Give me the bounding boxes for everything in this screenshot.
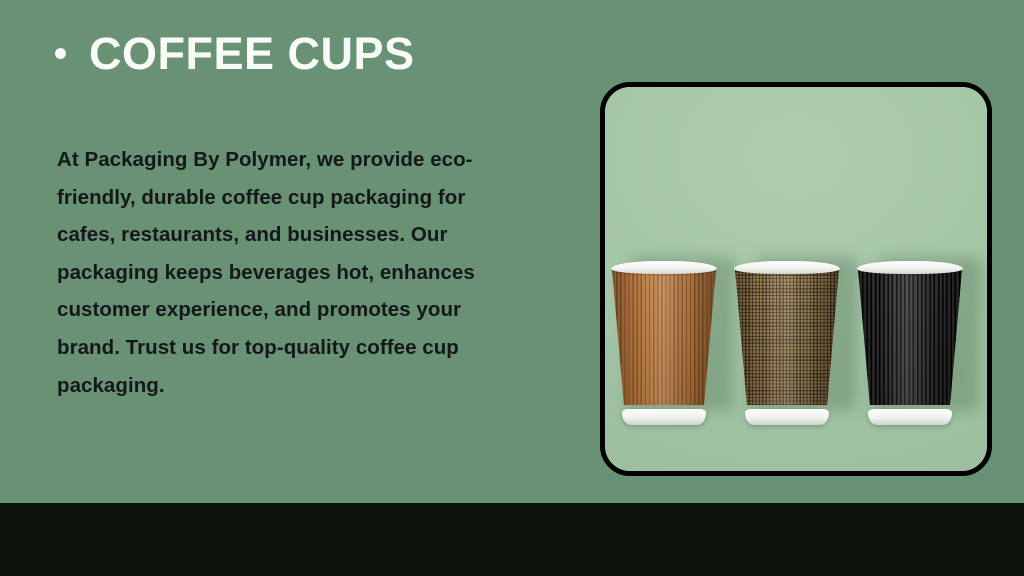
bottom-bar bbox=[0, 503, 1024, 576]
coffee-cups-photo bbox=[605, 87, 987, 471]
woven-texture-cup bbox=[735, 261, 839, 417]
body-paragraph: At Packaging By Polymer, we provide eco-… bbox=[57, 141, 517, 404]
cup-base bbox=[868, 409, 952, 425]
cup-rim bbox=[857, 261, 963, 274]
black-ripple-cup bbox=[858, 261, 962, 417]
cup-rim bbox=[611, 261, 717, 274]
cup-rim bbox=[734, 261, 840, 274]
cup-base bbox=[622, 409, 706, 425]
presentation-slide: COFFEE CUPS At Packaging By Polymer, we … bbox=[0, 0, 1024, 576]
bullet-dot-icon bbox=[55, 48, 66, 59]
heading-row: COFFEE CUPS bbox=[55, 30, 415, 77]
cup-body bbox=[735, 269, 839, 405]
page-title: COFFEE CUPS bbox=[89, 30, 415, 77]
cup-base bbox=[745, 409, 829, 425]
kraft-ripple-cup bbox=[612, 261, 716, 417]
cup-body bbox=[612, 269, 716, 405]
content-column: COFFEE CUPS At Packaging By Polymer, we … bbox=[0, 0, 560, 503]
image-card bbox=[600, 82, 992, 476]
cup-body bbox=[858, 269, 962, 405]
